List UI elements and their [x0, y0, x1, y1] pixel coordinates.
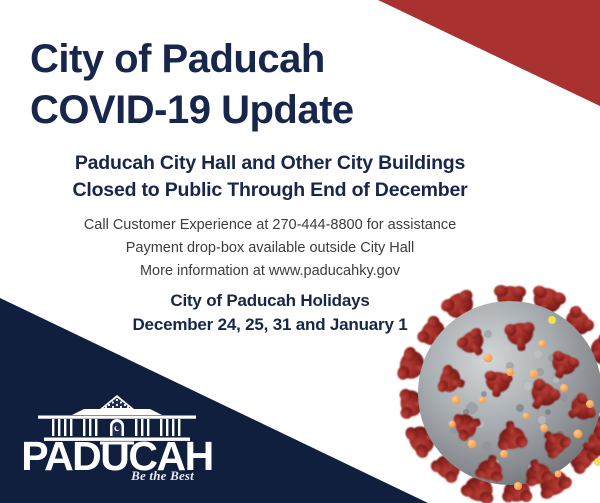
- contact-phone-line: Call Customer Experience at 270-444-8800…: [22, 214, 518, 237]
- dropbox-line: Payment drop-box available outside City …: [22, 237, 518, 260]
- contact-details: Call Customer Experience at 270-444-8800…: [22, 214, 518, 283]
- holiday-notice: City of Paducah Holidays December 24, 25…: [22, 289, 518, 337]
- title-line-1: City of Paducah: [30, 34, 500, 85]
- page-title: City of Paducah COVID-19 Update: [30, 34, 500, 136]
- subtitle-line-1: Paducah City Hall and Other City Buildin…: [22, 150, 518, 177]
- holiday-dates: December 24, 25, 31 and January 1: [22, 313, 518, 337]
- title-line-2: COVID-19 Update: [30, 85, 500, 136]
- subtitle: Paducah City Hall and Other City Buildin…: [22, 150, 518, 204]
- poster-content: City of Paducah COVID-19 Update Paducah …: [0, 0, 600, 503]
- paducah-logo: PADUCAH Be the Best: [22, 392, 212, 480]
- covid-update-poster: City of Paducah COVID-19 Update Paducah …: [0, 0, 600, 503]
- subtitle-line-2: Closed to Public Through End of December: [22, 177, 518, 204]
- logo-tagline: Be the Best: [130, 468, 194, 480]
- website-line: More information at www.paducahky.gov: [22, 260, 518, 283]
- holiday-heading: City of Paducah Holidays: [22, 289, 518, 313]
